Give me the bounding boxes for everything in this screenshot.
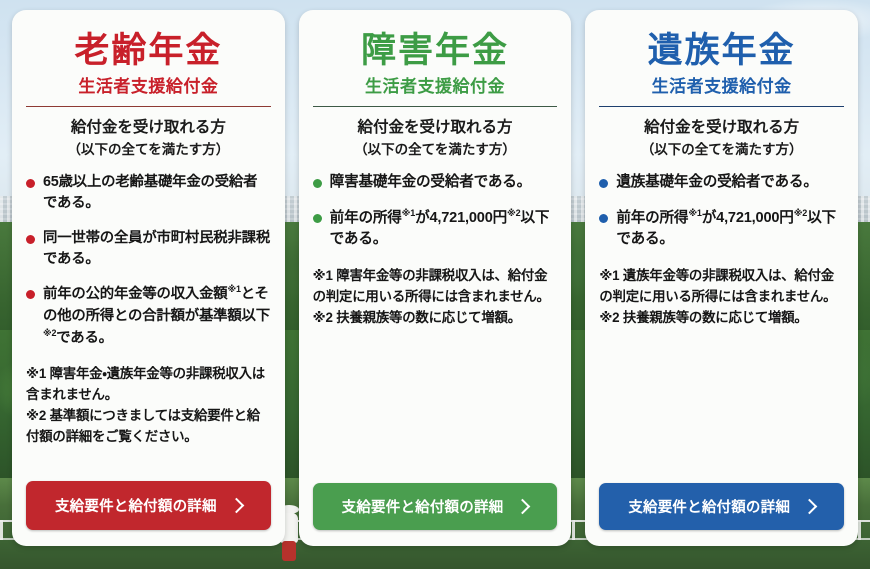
list-item: 遺族基礎年金の受給者である。 xyxy=(599,172,844,194)
cta-container: 支給要件と給付額の詳細 xyxy=(313,483,558,546)
condition-text: 同一世帯の全員が市町村民税非課税である。 xyxy=(43,230,270,267)
eligibility-subheading: （以下の全てを満たす方） xyxy=(26,141,271,160)
card-title: 障害年金 xyxy=(313,32,558,70)
card-old-age-pension[interactable]: 老齢年金 生活者支援給付金 給付金を受け取れる方 （以下の全てを満たす方） 65… xyxy=(12,10,285,546)
card-subtitle: 生活者支援給付金 xyxy=(26,72,271,97)
footnote: ※1 遺族年金等の非課税収入は、給付金の判定に用いる所得には含まれません。 xyxy=(599,266,844,308)
spacer xyxy=(599,330,844,483)
footnotes: ※1 遺族年金等の非課税収入は、給付金の判定に用いる所得には含まれません。 ※2… xyxy=(599,266,844,330)
condition-text-mid: が4,721,000円 xyxy=(702,210,794,226)
list-item: 障害基礎年金の受給者である。 xyxy=(313,172,558,194)
footnote-marker-2: ※2 xyxy=(507,208,520,218)
footnote: ※2 基準額につきましては支給要件と給付額の詳細をご覧ください。 xyxy=(26,406,271,448)
details-button-label: 支給要件と給付額の詳細 xyxy=(628,496,790,517)
condition-list: 遺族基礎年金の受給者である。 前年の所得※1が4,721,000円※2以下である… xyxy=(599,172,844,264)
list-item: 前年の公的年金等の収入金額※1とその他の所得との合計額が基準額以下※2である。 xyxy=(26,283,271,349)
footnote: ※2 扶養親族等の数に応じて増額。 xyxy=(313,308,558,329)
footnote-marker-1: ※1 xyxy=(402,208,415,218)
eligibility-subheading: （以下の全てを満たす方） xyxy=(313,141,558,160)
footnote-marker-2: ※2 xyxy=(43,328,56,338)
cta-container: 支給要件と給付額の詳細 xyxy=(26,481,271,546)
condition-text-mid: が4,721,000円 xyxy=(415,210,507,226)
spacer xyxy=(313,330,558,483)
footnotes: ※1 障害年金・遺族年金等の非課税収入は含まれません。 ※2 基準額につきまして… xyxy=(26,364,271,449)
condition-text: 障害基礎年金の受給者である。 xyxy=(330,174,531,190)
list-item: 前年の所得※1が4,721,000円※2以下である。 xyxy=(599,207,844,251)
condition-text: 前年の公的年金等の収入金額 xyxy=(43,286,227,302)
card-title: 老齢年金 xyxy=(26,32,271,70)
condition-list: 65歳以上の老齢基礎年金の受給者である。 同一世帯の全員が市町村民税非課税である… xyxy=(26,172,271,362)
footnotes: ※1 障害年金等の非課税収入は、給付金の判定に用いる所得には含まれません。 ※2… xyxy=(313,266,558,330)
card-survivors-pension[interactable]: 遺族年金 生活者支援給付金 給付金を受け取れる方 （以下の全てを満たす方） 遺族… xyxy=(585,10,858,546)
condition-text-end: である。 xyxy=(56,330,113,346)
eligibility-heading: 給付金を受け取れる方 xyxy=(26,117,271,139)
footnote: ※2 扶養親族等の数に応じて増額。 xyxy=(599,308,844,329)
pension-card-list: 老齢年金 生活者支援給付金 給付金を受け取れる方 （以下の全てを満たす方） 65… xyxy=(0,0,870,569)
cta-container: 支給要件と給付額の詳細 xyxy=(599,483,844,546)
chevron-right-icon xyxy=(802,499,818,515)
list-item: 前年の所得※1が4,721,000円※2以下である。 xyxy=(313,207,558,251)
details-button-label: 支給要件と給付額の詳細 xyxy=(55,495,217,516)
chevron-right-icon xyxy=(515,499,531,515)
details-button[interactable]: 支給要件と給付額の詳細 xyxy=(599,483,844,530)
condition-text: 65歳以上の老齢基礎年金の受給者である。 xyxy=(43,174,257,211)
footnote-marker-2: ※2 xyxy=(794,208,807,218)
chevron-right-icon xyxy=(228,498,244,514)
list-item: 65歳以上の老齢基礎年金の受給者である。 xyxy=(26,172,271,215)
footnote-marker-1: ※1 xyxy=(688,208,701,218)
list-item: 同一世帯の全員が市町村民税非課税である。 xyxy=(26,228,271,271)
eligibility-heading: 給付金を受け取れる方 xyxy=(599,117,844,139)
title-divider xyxy=(313,106,558,107)
condition-text: 前年の所得 xyxy=(616,210,688,226)
spacer xyxy=(26,449,271,481)
condition-text: 前年の所得 xyxy=(330,210,402,226)
title-divider xyxy=(599,106,844,107)
title-divider xyxy=(26,106,271,107)
footnote-marker-1: ※1 xyxy=(227,284,240,294)
card-subtitle: 生活者支援給付金 xyxy=(599,72,844,97)
card-subtitle: 生活者支援給付金 xyxy=(313,72,558,97)
details-button[interactable]: 支給要件と給付額の詳細 xyxy=(313,483,558,530)
eligibility-heading: 給付金を受け取れる方 xyxy=(313,117,558,139)
card-disability-pension[interactable]: 障害年金 生活者支援給付金 給付金を受け取れる方 （以下の全てを満たす方） 障害… xyxy=(299,10,572,546)
eligibility-subheading: （以下の全てを満たす方） xyxy=(599,141,844,160)
details-button-label: 支給要件と給付額の詳細 xyxy=(342,496,504,517)
card-title: 遺族年金 xyxy=(599,32,844,70)
condition-list: 障害基礎年金の受給者である。 前年の所得※1が4,721,000円※2以下である… xyxy=(313,172,558,264)
footnote: ※1 障害年金等の非課税収入は、給付金の判定に用いる所得には含まれません。 xyxy=(313,266,558,308)
footnote: ※1 障害年金・遺族年金等の非課税収入は含まれません。 xyxy=(26,364,271,406)
details-button[interactable]: 支給要件と給付額の詳細 xyxy=(26,481,271,530)
condition-text: 遺族基礎年金の受給者である。 xyxy=(616,174,817,190)
